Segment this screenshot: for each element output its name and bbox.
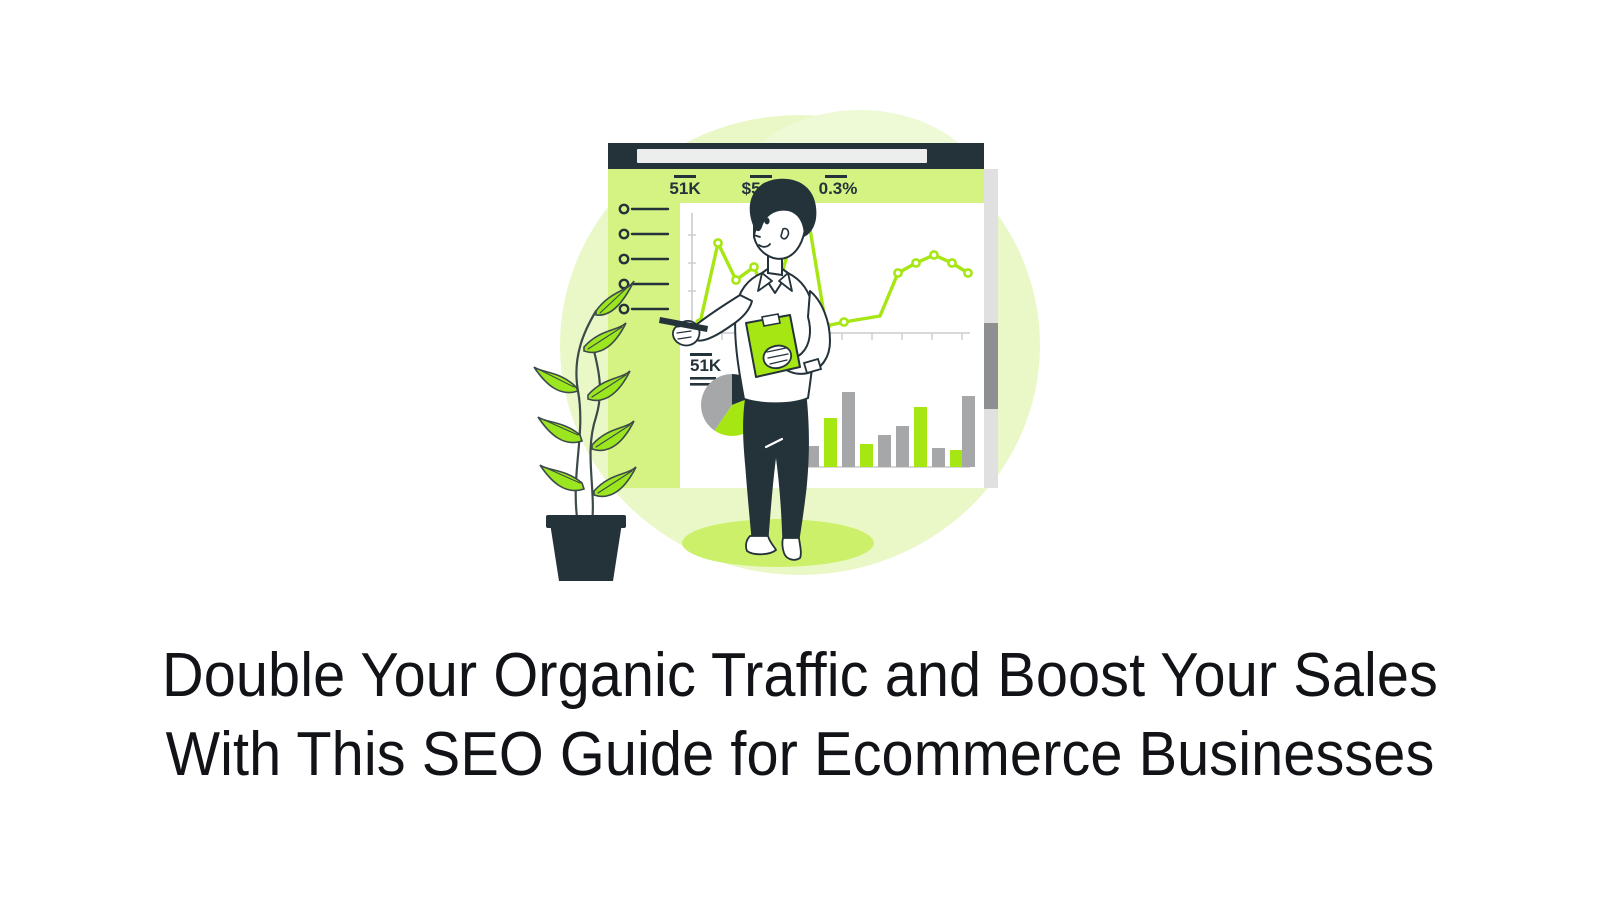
bar bbox=[860, 444, 873, 467]
bar bbox=[962, 396, 975, 467]
lower-charts-card: 51K bbox=[680, 345, 984, 488]
kpi-rule-a bbox=[690, 377, 716, 380]
shoe-right bbox=[782, 538, 801, 560]
pot-rim bbox=[546, 515, 626, 528]
bar bbox=[950, 450, 963, 467]
hero-canvas: 51K $51K 0.3% bbox=[0, 0, 1600, 900]
analytics-dashboard-illustration: 51K $51K 0.3% bbox=[500, 95, 1100, 615]
ground-shadow bbox=[682, 519, 874, 567]
bar bbox=[878, 435, 891, 467]
kpi-item-0: 51K bbox=[669, 175, 701, 198]
bar bbox=[914, 407, 927, 467]
scrollbar-thumb bbox=[984, 323, 998, 409]
kpi-value: 0.3% bbox=[819, 179, 858, 198]
bar bbox=[842, 392, 855, 467]
clipboard-clip bbox=[762, 314, 780, 326]
address-bar bbox=[637, 149, 927, 163]
holding-hand bbox=[763, 346, 791, 369]
kpi-rule bbox=[674, 175, 696, 178]
ear bbox=[781, 229, 788, 239]
page-title: Double Your Organic Traffic and Boost Yo… bbox=[130, 636, 1469, 795]
secondary-kpi-value: 51K bbox=[690, 356, 722, 375]
bar bbox=[932, 448, 945, 467]
kpi-rule bbox=[750, 175, 772, 178]
bar bbox=[824, 418, 837, 467]
eyebrow bbox=[761, 212, 772, 213]
plant-pot bbox=[550, 523, 622, 581]
kpi-value: 51K bbox=[669, 179, 701, 198]
bar bbox=[896, 426, 909, 467]
kpi-rule bbox=[825, 175, 847, 178]
kpi-item-2: 0.3% bbox=[819, 175, 858, 198]
eye bbox=[764, 218, 769, 225]
